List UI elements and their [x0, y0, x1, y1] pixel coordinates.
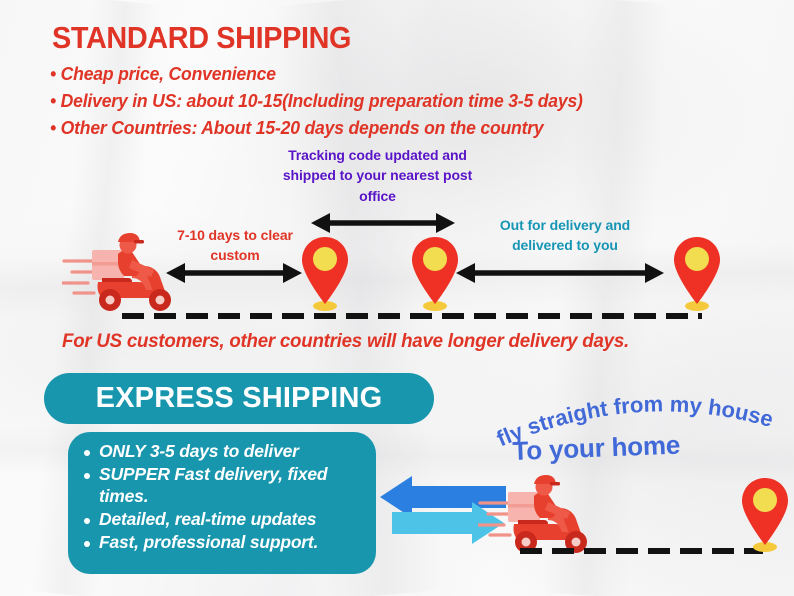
express-dashed-line: [520, 548, 763, 554]
express-bullet-4-text: Fast, professional support.: [99, 532, 318, 553]
standard-bullet-3: • Other Countries: About 15-20 days depe…: [50, 117, 543, 139]
bullet-marker: •: [50, 63, 61, 84]
standard-bullet-2: • Delivery in US: about 10-15(Including …: [50, 90, 583, 112]
express-shipping-title: EXPRESS SHIPPING: [96, 382, 383, 415]
delivery-scooter-express-icon: [478, 470, 600, 556]
express-bullet-4: Fast, professional support.: [82, 532, 364, 553]
bullet-marker: •: [50, 90, 61, 111]
us-customers-note: For US customers, other countries will h…: [62, 330, 629, 353]
bullet-dot-icon: [84, 518, 90, 524]
map-pin-home-icon: [740, 475, 790, 555]
double-arrow-clear-custom: [166, 258, 302, 288]
standard-shipping-title: STANDARD SHIPPING: [52, 20, 351, 56]
tracking-code-label: Tracking code updated and shipped to you…: [270, 145, 485, 206]
to-your-home-text: To your home: [512, 430, 681, 467]
express-features-panel: ONLY 3-5 days to deliver SUPPER Fast del…: [68, 432, 376, 574]
express-bullet-2: SUPPER Fast delivery, fixed times.: [82, 464, 364, 507]
standard-bullet-3-text: Other Countries: About 15-20 days depend…: [61, 117, 544, 138]
map-pin-destination-icon: [672, 234, 722, 314]
standard-bullet-2-text: Delivery in US: about 10-15(Including pr…: [61, 90, 583, 111]
express-bullet-3: Detailed, real-time updates: [82, 509, 364, 530]
bullet-dot-icon: [84, 450, 90, 456]
express-shipping-banner: EXPRESS SHIPPING: [44, 373, 434, 424]
bullet-dot-icon: [84, 541, 90, 547]
infographic-canvas: STANDARD SHIPPING • Cheap price, Conveni…: [0, 0, 794, 596]
map-pin-icon: [410, 234, 460, 314]
express-bullet-1: ONLY 3-5 days to deliver: [82, 441, 364, 462]
double-arrow-out-for-delivery: [456, 258, 664, 288]
express-bullet-3-text: Detailed, real-time updates: [99, 509, 316, 530]
standard-bullet-1: • Cheap price, Convenience: [50, 63, 276, 85]
express-bullet-2-text: SUPPER Fast delivery, fixed times.: [99, 464, 364, 507]
standard-bullet-1-text: Cheap price, Convenience: [61, 63, 276, 84]
express-bullet-1-text: ONLY 3-5 days to deliver: [99, 441, 299, 462]
map-pin-icon: [300, 234, 350, 314]
bullet-marker: •: [50, 117, 61, 138]
out-for-delivery-label: Out for delivery and delivered to you: [480, 215, 650, 256]
bullet-dot-icon: [84, 473, 90, 479]
timeline-dashed-line: [122, 313, 702, 319]
